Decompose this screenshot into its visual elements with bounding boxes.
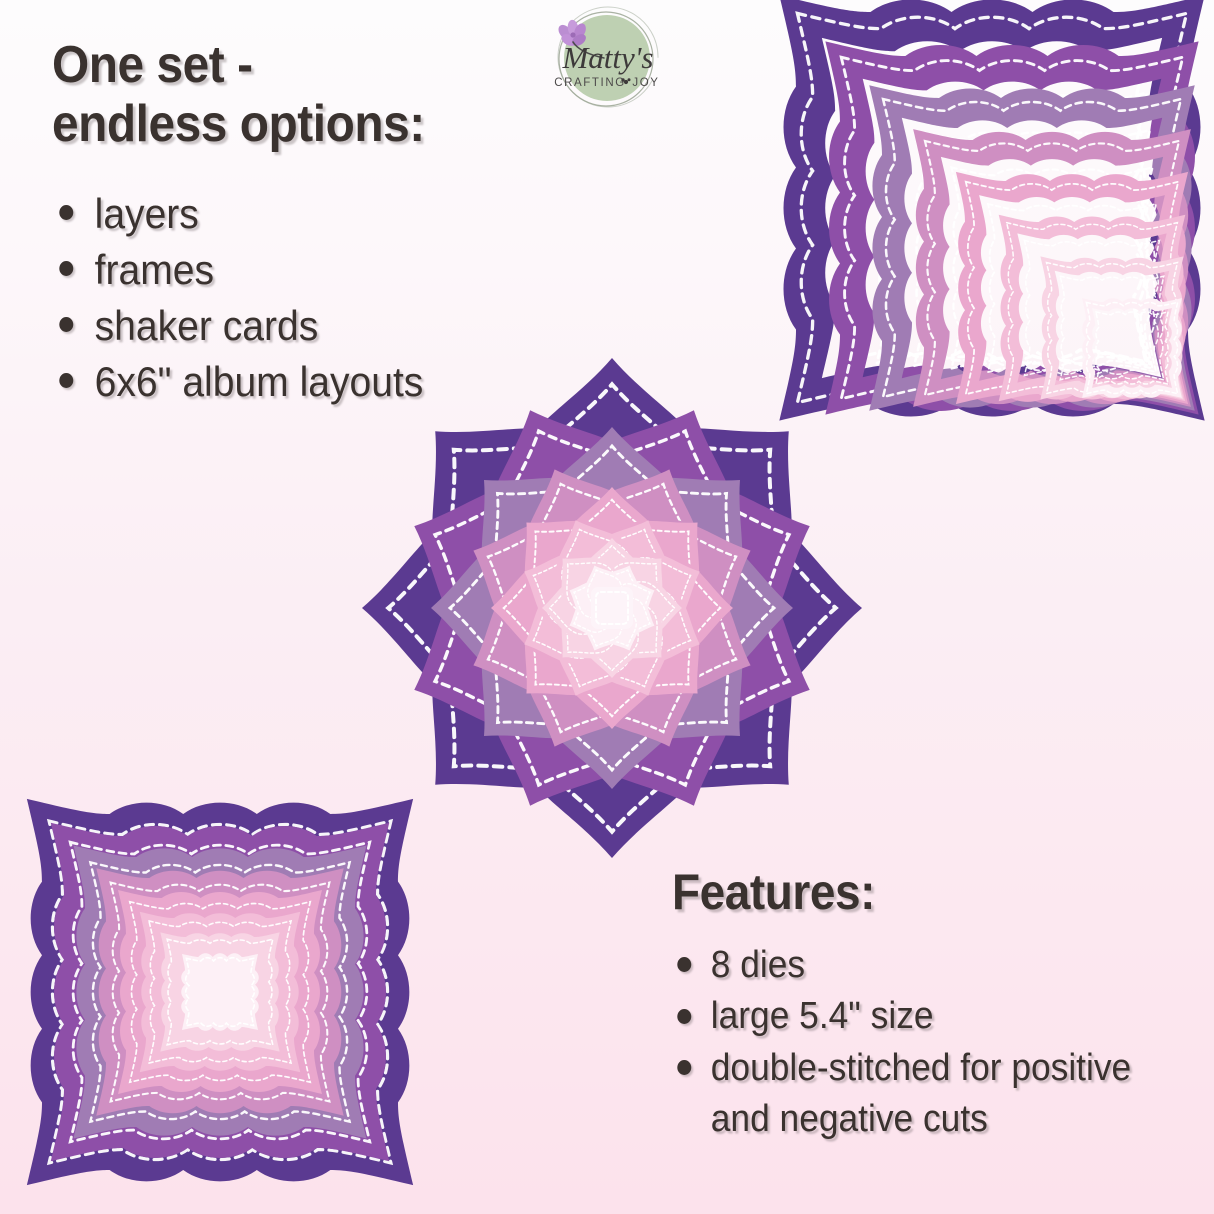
list-item: frames xyxy=(50,242,487,298)
list-item: double-stitched for positive and negativ… xyxy=(668,1043,1161,1146)
list-item: 8 dies xyxy=(668,940,1161,991)
square-layer-8 xyxy=(181,953,259,1031)
logo-tagline-right: JOY xyxy=(632,77,659,89)
mandala-core xyxy=(591,587,633,629)
features-bullet-list: 8 dies large 5.4" size double-stitched f… xyxy=(668,940,1198,1145)
list-item: layers xyxy=(50,186,487,242)
intro-heading: One set - endless options: xyxy=(52,36,484,155)
logo-wordmark: Matty's xyxy=(561,40,653,75)
list-item: large 5.4" size xyxy=(668,991,1161,1042)
brand-logo: Matty's CRAFTING JOY xyxy=(520,6,690,118)
logo-tagline-left: CRAFTING xyxy=(554,77,626,89)
wavy-square-frames-cascade xyxy=(786,4,1214,436)
wavy-frame-5 xyxy=(956,172,1188,404)
wavy-square-layered-sample xyxy=(8,778,432,1206)
product-promo-graphic: Matty's CRAFTING JOY One set - endless o… xyxy=(0,0,1214,1214)
